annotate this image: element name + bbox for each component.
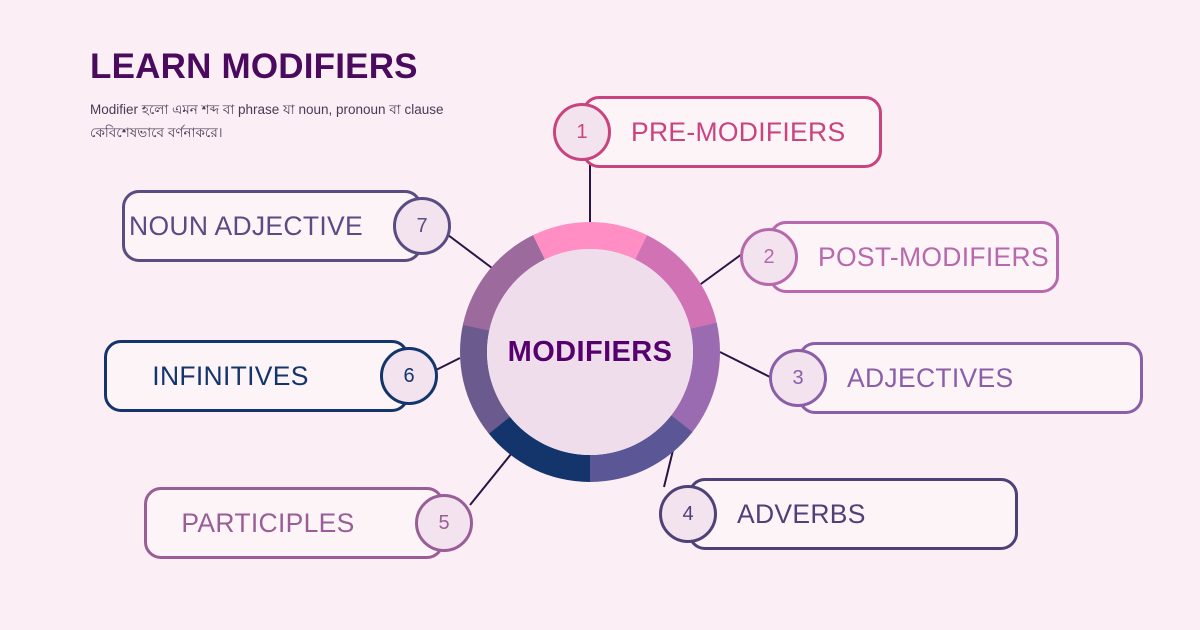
item-box-post-modifiers[interactable]: POST-MODIFIERS: [769, 221, 1059, 293]
item-label-participles: PARTICIPLES: [147, 510, 389, 537]
item-node-noun-adjective[interactable]: NOUN ADJECTIVE7: [122, 190, 451, 262]
item-node-adverbs[interactable]: ADVERBS4: [659, 478, 1018, 550]
connector-3: [720, 352, 772, 378]
item-label-noun-adjective: NOUN ADJECTIVE: [125, 213, 367, 240]
page-subtitle: Modifier হলো এমন শব্দ বা phrase যা noun,…: [90, 98, 490, 144]
item-box-noun-adjective[interactable]: NOUN ADJECTIVE: [122, 190, 422, 262]
item-label-post-modifiers: POST-MODIFIERS: [818, 244, 1049, 271]
item-number-badge-1: 1: [553, 103, 611, 161]
item-number-badge-6: 6: [380, 347, 438, 405]
header: LEARN MODIFIERS Modifier হলো এমন শব্দ বা…: [90, 48, 520, 144]
item-label-pre-modifiers: PRE-MODIFIERS: [631, 119, 845, 146]
item-box-infinitives[interactable]: INFINITIVES: [104, 340, 409, 412]
item-node-infinitives[interactable]: INFINITIVES6: [104, 340, 438, 412]
infographic-canvas: LEARN MODIFIERS Modifier হলো এমন শব্দ বা…: [0, 0, 1200, 630]
item-number-badge-3: 3: [769, 349, 827, 407]
item-number-badge-4: 4: [659, 485, 717, 543]
page-title: LEARN MODIFIERS: [90, 48, 520, 87]
item-label-adverbs: ADVERBS: [737, 501, 866, 528]
item-node-adjectives[interactable]: ADJECTIVES3: [769, 342, 1143, 414]
central-donut-chart: MODIFIERS: [460, 222, 720, 482]
item-box-pre-modifiers[interactable]: PRE-MODIFIERS: [582, 96, 882, 168]
item-number-badge-7: 7: [393, 197, 451, 255]
item-label-infinitives: INFINITIVES: [107, 363, 354, 390]
item-number-badge-5: 5: [415, 494, 473, 552]
item-box-adverbs[interactable]: ADVERBS: [688, 478, 1018, 550]
item-label-adjectives: ADJECTIVES: [847, 365, 1013, 392]
item-node-post-modifiers[interactable]: POST-MODIFIERS2: [740, 221, 1059, 293]
item-number-badge-2: 2: [740, 228, 798, 286]
item-node-pre-modifiers[interactable]: PRE-MODIFIERS1: [553, 96, 882, 168]
item-box-adjectives[interactable]: ADJECTIVES: [798, 342, 1143, 414]
item-node-participles[interactable]: PARTICIPLES5: [144, 487, 473, 559]
hub-label: MODIFIERS: [460, 222, 720, 482]
item-box-participles[interactable]: PARTICIPLES: [144, 487, 444, 559]
